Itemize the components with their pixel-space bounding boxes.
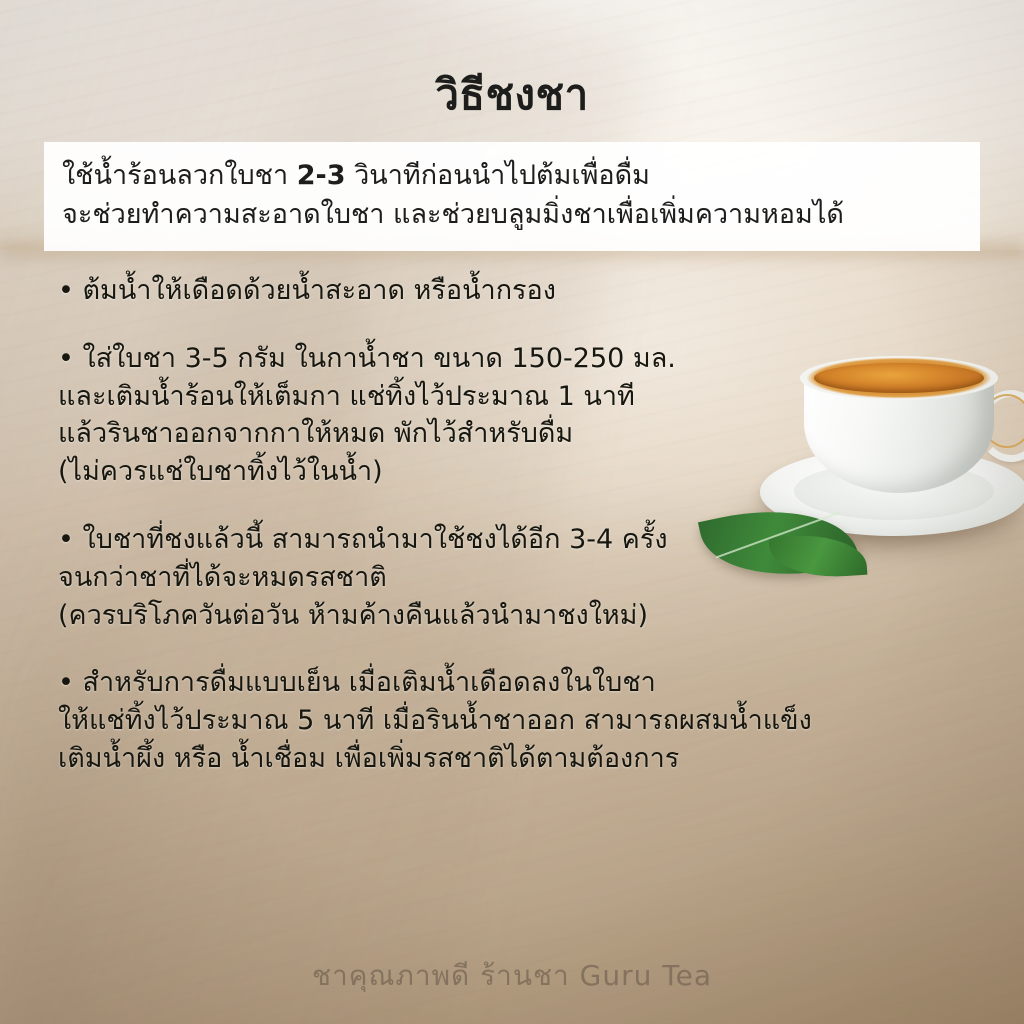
step-2-line-1: • ใส่ใบชา 3-5 กรัม ในกาน้ำชา ขนาด 150-25… [58, 340, 988, 378]
step-3-line-2: จนกว่าชาที่ได้จะหมดรสชาติ [58, 559, 988, 597]
step-4-line-3: เติมน้ำผึ้ง หรือ น้ำเชื่อม เพื่อเพิ่มรสช… [58, 740, 988, 778]
step-2: • ใส่ใบชา 3-5 กรัม ในกาน้ำชา ขนาด 150-25… [58, 340, 988, 491]
highlight-line-1-part-a: ใช้น้ำร้อนลวกใบชา [62, 160, 297, 191]
step-2-line-4: (ไม่ควรแช่ใบชาทิ้งไว้ในน้ำ) [58, 453, 988, 491]
step-1: • ต้มน้ำให้เดือดด้วยน้ำสะอาด หรือน้ำกรอง [58, 272, 988, 310]
step-3-line-1: • ใบชาที่ชงแล้วนี้ สามารถนำมาใช้ชงได้อีก… [58, 521, 988, 559]
step-3: • ใบชาที่ชงแล้วนี้ สามารถนำมาใช้ชงได้อีก… [58, 521, 988, 634]
steps-list: • ต้มน้ำให้เดือดด้วยน้ำสะอาด หรือน้ำกรอง… [58, 272, 988, 808]
page-title: วิธีชงชา [0, 62, 1024, 128]
step-2-line-2: และเติมน้ำร้อนให้เต็มกา แช่ทิ้งไว้ประมาณ… [58, 378, 988, 416]
highlight-line-1-part-c: วินาทีก่อนนำไปต้มเพื่อดื่ม [346, 160, 650, 191]
step-4-line-1: • สำหรับการดื่มแบบเย็น เมื่อเติมน้ำเดือด… [58, 664, 988, 702]
footer-brand: ชาคุณภาพดี ร้านชา Guru Tea [0, 954, 1024, 998]
step-2-line-3: แล้วรินชาออกจากกาให้หมด พักไว้สำหรับดื่ม [58, 415, 988, 453]
highlight-line-1: ใช้น้ำร้อนลวกใบชา 2-3 วินาทีก่อนนำไปต้มเ… [62, 156, 962, 195]
step-3-line-3: (ควรบริโภควันต่อวัน ห้ามค้างคืนแล้วนำมาช… [58, 597, 988, 635]
infographic-page: วิธีชงชา ใช้น้ำร้อนลวกใบชา 2-3 วินาทีก่อ… [0, 0, 1024, 1024]
step-1-line-1: • ต้มน้ำให้เดือดด้วยน้ำสะอาด หรือน้ำกรอง [58, 272, 988, 310]
highlight-callout: ใช้น้ำร้อนลวกใบชา 2-3 วินาทีก่อนนำไปต้มเ… [44, 142, 980, 251]
highlight-line-2: จะช่วยทำความสะอาดใบชา และช่วยบลูมมิ่งชาเ… [62, 195, 962, 234]
highlight-line-1-emphasis: 2-3 [297, 160, 346, 191]
step-4-line-2: ให้แช่ทิ้งไว้ประมาณ 5 นาที เมื่อรินน้ำชา… [58, 702, 988, 740]
step-4: • สำหรับการดื่มแบบเย็น เมื่อเติมน้ำเดือด… [58, 664, 988, 777]
